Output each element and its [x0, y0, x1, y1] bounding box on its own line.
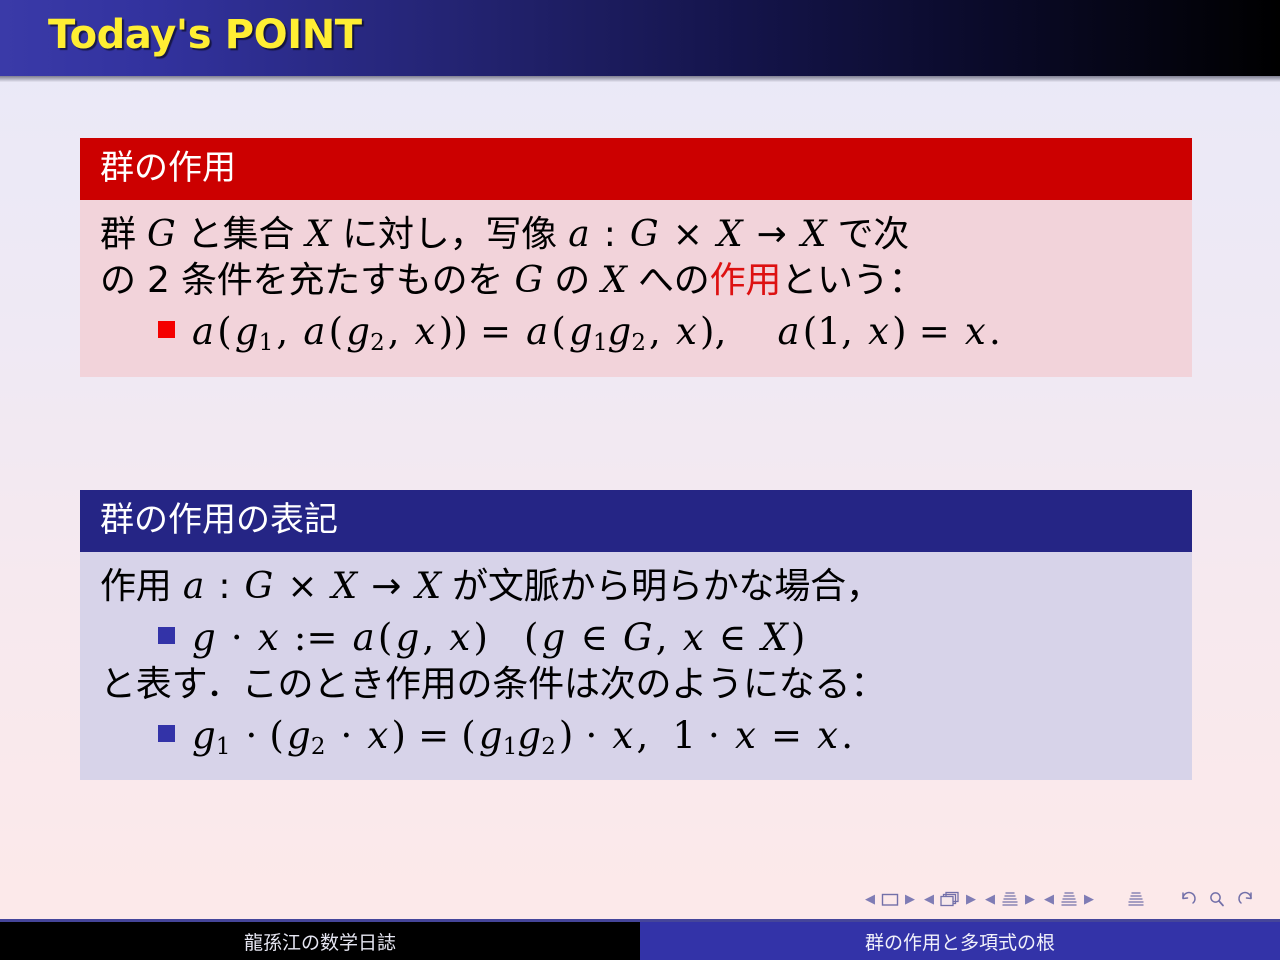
text-segment: で次 — [826, 214, 909, 255]
block-notation-title: 群の作用の表記 — [80, 490, 1192, 552]
subsection-icon[interactable] — [1000, 890, 1020, 908]
math-arrow: → — [742, 214, 800, 255]
definition-line-2: の 2 条件を充たすものを G の X への作用という： — [100, 258, 1172, 304]
block-definition-title: 群の作用 — [80, 138, 1192, 200]
next-subsection-arrow-icon[interactable]: ▶ — [1025, 893, 1035, 906]
text-segment: への — [627, 260, 710, 301]
notation-line-2: と表す．このとき作用の条件は次のようになる： — [100, 662, 1172, 708]
nav-group-subsection[interactable]: ◀ ▶ — [985, 890, 1035, 908]
math-symbol-G: G — [514, 260, 543, 301]
text-segment: の 2 条件を充たすものを — [100, 260, 514, 301]
math-symbol-G: G — [630, 214, 659, 255]
prev-section-arrow-icon[interactable]: ◀ — [1044, 893, 1054, 906]
next-section-arrow-icon[interactable]: ▶ — [1084, 893, 1094, 906]
square-bullet-icon — [158, 725, 175, 742]
math-symbol-X: X — [415, 566, 440, 607]
beamer-navigation-symbols[interactable]: ◀ ▶ ◀ ▶ ◀ — [865, 890, 1256, 908]
text-segment: の — [543, 260, 601, 301]
slide-header-bar: Today's POINT — [0, 0, 1280, 76]
next-frame-arrow-icon[interactable]: ▶ — [966, 893, 976, 906]
notation-line-1: 作用 a : G × X → X が文脈から明らかな場合， — [100, 564, 1172, 610]
math-symbol-a: a — [568, 214, 589, 255]
math-symbol-X: X — [717, 214, 742, 255]
math-symbol-G: G — [147, 214, 176, 255]
page-title: Today's POINT — [48, 12, 362, 58]
text-segment: 作用 — [100, 566, 183, 607]
block-notation-body: 作用 a : G × X → X が文脈から明らかな場合， g · x := a… — [80, 552, 1192, 780]
search-icon[interactable] — [1207, 890, 1227, 908]
slide-icon[interactable] — [880, 891, 900, 908]
prev-frame-arrow-icon[interactable]: ◀ — [924, 893, 934, 906]
math-arrow: → — [357, 566, 415, 607]
math-symbol-G: G — [245, 566, 274, 607]
notation-formula-1: g · x := a(g, x) (g ∈ G, x ∈ X) — [192, 614, 809, 661]
notation-bullet-item-2: g1 · (g2 · x) = (g1g2) · x, 1 · x = x. — [100, 712, 1172, 762]
next-slide-arrow-icon[interactable]: ▶ — [905, 893, 915, 906]
header-shadow-divider — [0, 76, 1280, 82]
footer-bar: 龍孫江の数学日誌 群の作用と多項式の根 — [0, 922, 1280, 960]
math-symbol-X: X — [801, 214, 826, 255]
definition-formula: a(g1, a(g2, x)) = a(g1g2, x), a(1, x) = … — [192, 308, 1004, 358]
prev-subsection-arrow-icon[interactable]: ◀ — [985, 893, 995, 906]
math-symbol-a: a — [183, 566, 204, 607]
math-times: × — [658, 214, 716, 255]
footer-author: 龍孫江の数学日誌 — [0, 922, 640, 960]
forward-icon[interactable] — [1236, 890, 1256, 908]
text-segment: が文脈から明らかな場合， — [441, 566, 882, 607]
footer-subject: 群の作用と多項式の根 — [640, 922, 1280, 960]
back-icon[interactable] — [1178, 890, 1198, 908]
notation-formula-2: g1 · (g2 · x) = (g1g2) · x, 1 · x = x. — [192, 712, 856, 762]
math-colon: : — [590, 214, 630, 255]
text-segment: と集合 — [176, 214, 306, 255]
block-notation: 群の作用の表記 作用 a : G × X → X が文脈から明らかな場合， g … — [80, 490, 1192, 780]
text-segment: という： — [781, 260, 924, 301]
square-bullet-icon — [158, 627, 175, 644]
square-bullet-icon — [158, 321, 175, 338]
math-symbol-X: X — [306, 214, 331, 255]
block-definition-body: 群 G と集合 X に対し，写像 a : G × X → X で次 の 2 条件… — [80, 200, 1192, 376]
definition-bullet-item: a(g1, a(g2, x)) = a(g1g2, x), a(1, x) = … — [100, 308, 1172, 358]
frames-icon[interactable] — [939, 890, 961, 908]
nav-group-frame[interactable]: ◀ ▶ — [924, 890, 976, 908]
text-segment: と表す．このとき作用の条件は次のようになる： — [100, 664, 886, 705]
math-colon: : — [204, 566, 244, 607]
definition-line-1: 群 G と集合 X に対し，写像 a : G × X → X で次 — [100, 212, 1172, 258]
text-segment: に対し，写像 — [331, 214, 568, 255]
highlighted-term-action: 作用 — [710, 260, 782, 301]
block-definition: 群の作用 群 G と集合 X に対し，写像 a : G × X → X で次 の… — [80, 138, 1192, 377]
math-symbol-X: X — [601, 260, 626, 301]
document-icon[interactable] — [1126, 890, 1146, 908]
section-icon[interactable] — [1059, 890, 1079, 908]
math-symbol-X: X — [332, 566, 357, 607]
nav-group-section[interactable]: ◀ ▶ — [1044, 890, 1094, 908]
notation-bullet-item-1: g · x := a(g, x) (g ∈ G, x ∈ X) — [100, 614, 1172, 661]
nav-group-slide[interactable]: ◀ ▶ — [865, 891, 915, 908]
math-times: × — [273, 566, 331, 607]
text-segment: 群 — [100, 214, 147, 255]
prev-slide-arrow-icon[interactable]: ◀ — [865, 893, 875, 906]
